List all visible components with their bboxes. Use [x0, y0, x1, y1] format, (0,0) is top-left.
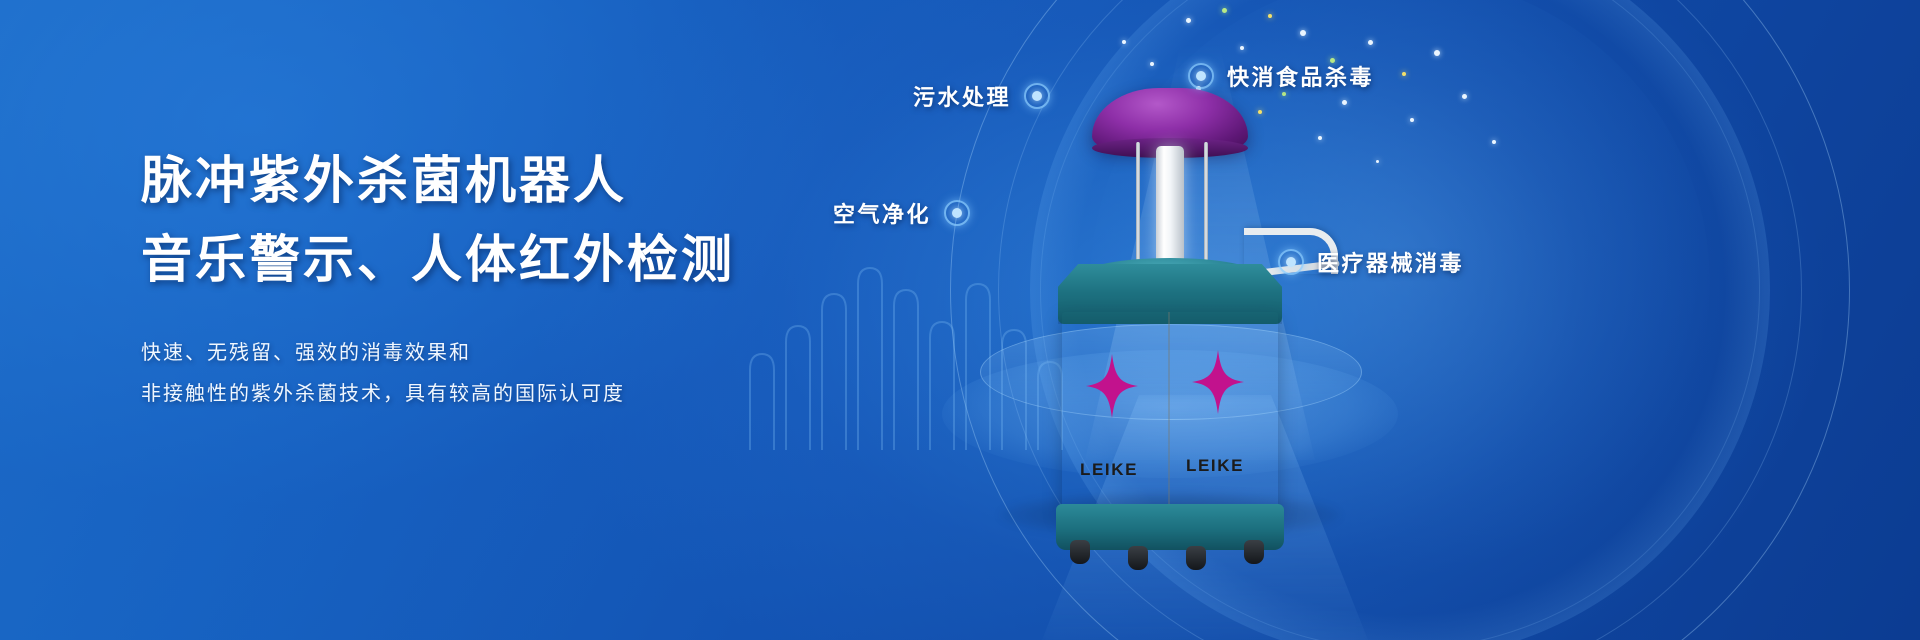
four-point-star-icon [1192, 350, 1244, 414]
ring-dot-marker-icon [944, 200, 970, 226]
uv-lamp-tube [1156, 146, 1184, 266]
hero-banner: LEIKE LEIKE 脉冲紫外杀菌机器人 音乐警示、人体红外检测 快速、无残留… [0, 0, 1920, 640]
feature-label: 污水处理 [913, 80, 1011, 112]
four-point-star-icon [1086, 354, 1138, 418]
feature-callout-air-purification[interactable]: 空气净化 [833, 197, 970, 229]
feature-label: 空气净化 [833, 197, 931, 229]
lamp-rod-right [1204, 142, 1208, 272]
hero-copy: 脉冲紫外杀菌机器人 音乐警示、人体红外检测 快速、无残留、强效的消毒效果和 非接… [141, 150, 901, 415]
ring-dot-marker-icon [1278, 249, 1304, 275]
feature-callout-medical-device-disinfection[interactable]: 医疗器械消毒 [1278, 246, 1464, 278]
feature-label: 快消食品杀毒 [1227, 60, 1374, 92]
description-line-2: 非接触性的紫外杀菌技术，具有较高的国际认可度 [141, 374, 901, 415]
caster-wheel [1070, 540, 1090, 564]
caster-wheel [1186, 546, 1206, 570]
feature-label: 医疗器械消毒 [1317, 246, 1464, 278]
page-title: 脉冲紫外杀菌机器人 [141, 150, 901, 215]
feature-callout-food-disinfection[interactable]: 快消食品杀毒 [1188, 60, 1374, 92]
page-subtitle: 音乐警示、人体红外检测 [141, 229, 901, 294]
brand-logo-right: LEIKE [1186, 456, 1244, 476]
description-line-1: 快速、无残留、强效的消毒效果和 [141, 333, 901, 374]
feature-callout-waste-water[interactable]: 污水处理 [913, 80, 1050, 112]
ring-dot-marker-icon [1024, 83, 1050, 109]
brand-logo-left: LEIKE [1080, 460, 1138, 480]
caster-wheel [1128, 546, 1148, 570]
caster-wheel [1244, 540, 1264, 564]
uv-disinfection-robot-illustration: LEIKE LEIKE [1020, 88, 1320, 518]
ring-dot-marker-icon [1188, 63, 1214, 89]
hero-description: 快速、无残留、强效的消毒效果和 非接触性的紫外杀菌技术，具有较高的国际认可度 [141, 333, 901, 415]
lamp-rod-left [1136, 142, 1140, 272]
cabinet-seam [1168, 312, 1170, 512]
